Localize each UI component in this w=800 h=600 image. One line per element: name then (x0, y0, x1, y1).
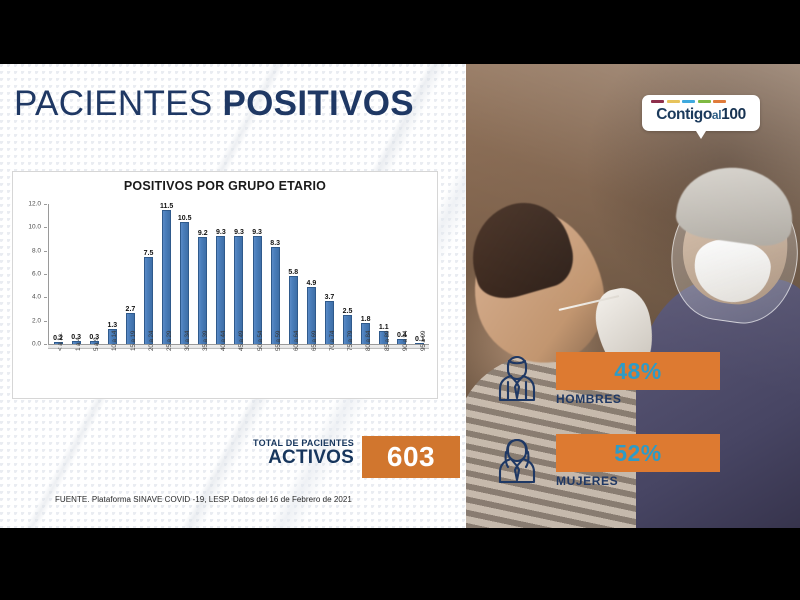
chart-bar-slot: 9.3 (248, 204, 266, 344)
chart-x-label-slot: 45 a 49 (229, 351, 247, 395)
total-value: 603 (387, 441, 435, 473)
chart-x-label-slot: 80 a 84 (356, 351, 374, 395)
letterbox-bottom (0, 528, 800, 600)
chart-x-label: 20 a 24 (148, 331, 155, 351)
chart-y-tickmark (44, 297, 47, 298)
chart-bars: 0.20.30.31.32.77.511.510.59.29.39.39.38.… (49, 204, 429, 344)
slide: PACIENTES POSITIVOS POSITIVOS POR GRUPO … (0, 64, 800, 528)
chart-x-label: 1 a 4 (75, 337, 82, 351)
chart-y-tickmark (44, 204, 47, 205)
chart-x-label-slot: 85 a 89 (375, 351, 393, 395)
chart-x-label: 65 a 69 (311, 331, 318, 351)
chart-bar-value: 11.5 (160, 203, 173, 210)
chart-bar: 8.3 (271, 247, 280, 344)
chart-x-label: 35 a 39 (202, 331, 209, 351)
chart-bar: 11.5 (162, 210, 171, 344)
chart-y-tick: 4.0 (32, 294, 41, 301)
chart-x-label-slot: 50 a 54 (248, 351, 266, 395)
chart-y-tickmark (44, 274, 47, 275)
chart-y-tick: 2.0 (32, 317, 41, 324)
chart-x-label-slot: < a 1a. (48, 351, 66, 395)
right-panel: Contigoal100 48% HOMBRES (466, 64, 800, 528)
chart-x-label: 45 a 49 (238, 331, 245, 351)
chart-x-label-slot: 1 a 4 (66, 351, 84, 395)
chart-bar-value: 1.8 (361, 316, 371, 323)
chart-bar-value: 9.2 (198, 230, 208, 237)
stat-percent-hombres: 48% (614, 358, 662, 385)
chart-y-tickmark (44, 321, 47, 322)
logo-color-bar (713, 100, 726, 103)
chart-x-label-slot: 60 a 64 (284, 351, 302, 395)
chart-bar-value: 1.3 (107, 322, 117, 329)
logo-text-100: 100 (721, 106, 746, 123)
chart-x-label: 30 a 34 (184, 331, 191, 351)
chart-x-label-slot: 25 a 29 (157, 351, 175, 395)
source-note: FUENTE. Plataforma SINAVE COVID -19, LES… (55, 495, 352, 504)
chart-x-axis-labels: < a 1a.1 a 45 a 910 a 1415 a 1920 a 2425… (48, 351, 429, 395)
chart-bar: 9.2 (198, 237, 207, 344)
chart-x-label-slot: 35 a 39 (193, 351, 211, 395)
chart-x-label: < a 1a. (57, 332, 64, 351)
chart-bar-value: 10.5 (178, 215, 192, 222)
chart-bar-slot: 4.9 (302, 204, 320, 344)
chart-x-label: 15 a 19 (130, 331, 137, 351)
chart-bar: 9.3 (216, 236, 225, 345)
chart-bar-slot: 1.1 (375, 204, 393, 344)
chart-y-tick: 10.0 (28, 224, 41, 231)
chart-x-label-slot: 20 a 24 (139, 351, 157, 395)
stat-percent-mujeres: 52% (614, 440, 662, 467)
chart-bar-slot: 0.3 (67, 204, 85, 344)
chart-x-label: 70 a 74 (329, 331, 336, 351)
stat-box-hombres: 48% (556, 352, 720, 390)
contigo-al-100-logo: Contigoal100 (642, 95, 760, 131)
chart-bar-slot: 11.5 (158, 204, 176, 344)
chart-x-label: 5 a 9 (93, 337, 100, 351)
chart-bar-value: 9.3 (252, 229, 262, 236)
chart-x-label: 55 a 59 (275, 331, 282, 351)
chart-x-label-slot: 75 a 79 (338, 351, 356, 395)
chart-bar-value: 4.9 (306, 280, 316, 287)
chart-bar-slot: 8.3 (266, 204, 284, 344)
chart-x-label-slot: 5 a 9 (84, 351, 102, 395)
chart-y-tick: 0.0 (32, 341, 41, 348)
chart-bar-slot: 1.8 (357, 204, 375, 344)
chart-bar-value: 9.3 (234, 229, 244, 236)
chart-card: POSITIVOS POR GRUPO ETARIO 0.02.04.06.08… (12, 171, 438, 399)
chart-bar-value: 5.8 (288, 269, 298, 276)
chart-bar-slot: 1.3 (103, 204, 121, 344)
chart-x-label: 90 a 94 (402, 331, 409, 351)
chart-y-axis: 0.02.04.06.08.010.012.0 (13, 204, 47, 344)
chart-bar-slot: 0.2 (49, 204, 67, 344)
chart-bar-value: 2.5 (343, 308, 353, 315)
logo-color-bars (651, 100, 726, 103)
left-panel: PACIENTES POSITIVOS POSITIVOS POR GRUPO … (0, 64, 466, 528)
chart-bar-slot: 9.3 (212, 204, 230, 344)
chart-x-label: 85 a 89 (384, 331, 391, 351)
chart-y-tickmark (44, 227, 47, 228)
chart-title: POSITIVOS POR GRUPO ETARIO (13, 179, 437, 193)
chart-bar-slot: 0.3 (85, 204, 103, 344)
stat-row-hombres: 48% HOMBRES (490, 352, 790, 422)
chart-x-label: 60 a 64 (293, 331, 300, 351)
chart-plot-area: 0.20.30.31.32.77.511.510.59.29.39.39.38.… (49, 204, 429, 344)
chart-x-label-slot: 65 a 69 (302, 351, 320, 395)
chart-x-label-slot: 90 a 94 (393, 351, 411, 395)
chart-x-label-slot: 30 a 34 (175, 351, 193, 395)
chart-y-tickmark (44, 251, 47, 252)
chart-x-label: 25 a 29 (166, 331, 173, 351)
chart-x-label: 10 a 14 (111, 331, 118, 351)
chart-bar-value: 9.3 (216, 229, 226, 236)
logo-text-al: al (712, 108, 721, 122)
chart-bar-slot: 5.8 (284, 204, 302, 344)
stat-label-mujeres: MUJERES (556, 474, 618, 488)
chart-x-label: 75 a 79 (347, 331, 354, 351)
logo-color-bar (682, 100, 695, 103)
chart-bar-slot: 0.1 (411, 204, 429, 344)
woman-icon (490, 434, 544, 488)
total-label-group: TOTAL DE PACIENTES ACTIVOS (236, 438, 354, 468)
logo-text-contigo: Contigo (656, 106, 712, 123)
chart-bar-value: 2.7 (126, 306, 136, 313)
page-title: PACIENTES POSITIVOS (14, 84, 414, 124)
chart-y-tick: 12.0 (28, 201, 41, 208)
man-icon (490, 352, 544, 406)
chart-bar-value: 3.7 (325, 294, 335, 301)
logo-color-bar (651, 100, 664, 103)
chart-x-label: 80 a 84 (365, 331, 372, 351)
chart-bar: 10.5 (180, 222, 189, 345)
logo-color-bar (667, 100, 680, 103)
chart-bar-slot: 10.5 (176, 204, 194, 344)
chart-y-tick: 6.0 (32, 271, 41, 278)
chart-x-label: 40 a 44 (220, 331, 227, 351)
chart-bar-slot: 2.7 (121, 204, 139, 344)
chart-y-tick: 8.0 (32, 247, 41, 254)
page-title-light: PACIENTES (14, 84, 212, 123)
letterbox-top (0, 0, 800, 64)
chart-bar-value: 7.5 (144, 250, 154, 257)
chart-bar-slot: 9.3 (230, 204, 248, 344)
chart-bar-slot: 3.7 (320, 204, 338, 344)
logo-text: Contigoal100 (642, 106, 760, 124)
stat-row-mujeres: 52% MUJERES (490, 434, 790, 504)
page-title-bold: POSITIVOS (223, 84, 414, 123)
chart-bar-slot: 0.4 (393, 204, 411, 344)
chart-x-label-slot: 40 a 44 (211, 351, 229, 395)
chart-bar-value: 8.3 (270, 240, 280, 247)
chart-bar-slot: 9.2 (194, 204, 212, 344)
total-active-patients: TOTAL DE PACIENTES ACTIVOS 603 (236, 436, 460, 478)
chart-bar-slot: 2.5 (339, 204, 357, 344)
chart-x-label: 95 a 99 (420, 331, 427, 351)
stat-box-mujeres: 52% (556, 434, 720, 472)
chart-bar: 9.3 (253, 236, 262, 345)
chart-x-label-slot: 10 a 14 (102, 351, 120, 395)
chart-y-tickmark (44, 344, 47, 345)
chart-x-label-slot: 95 a 99 (411, 351, 429, 395)
chart-bar-slot: 7.5 (139, 204, 157, 344)
chart-bar: 9.3 (234, 236, 243, 345)
total-value-box: 603 (362, 436, 460, 478)
chart-x-label-slot: 15 a 19 (121, 351, 139, 395)
chart-x-label-slot: 55 a 59 (266, 351, 284, 395)
logo-color-bar (698, 100, 711, 103)
chart-x-label: 50 a 54 (257, 331, 264, 351)
total-label-line2: ACTIVOS (236, 448, 354, 468)
chart-x-label-slot: 70 a 74 (320, 351, 338, 395)
stat-label-hombres: HOMBRES (556, 392, 622, 406)
